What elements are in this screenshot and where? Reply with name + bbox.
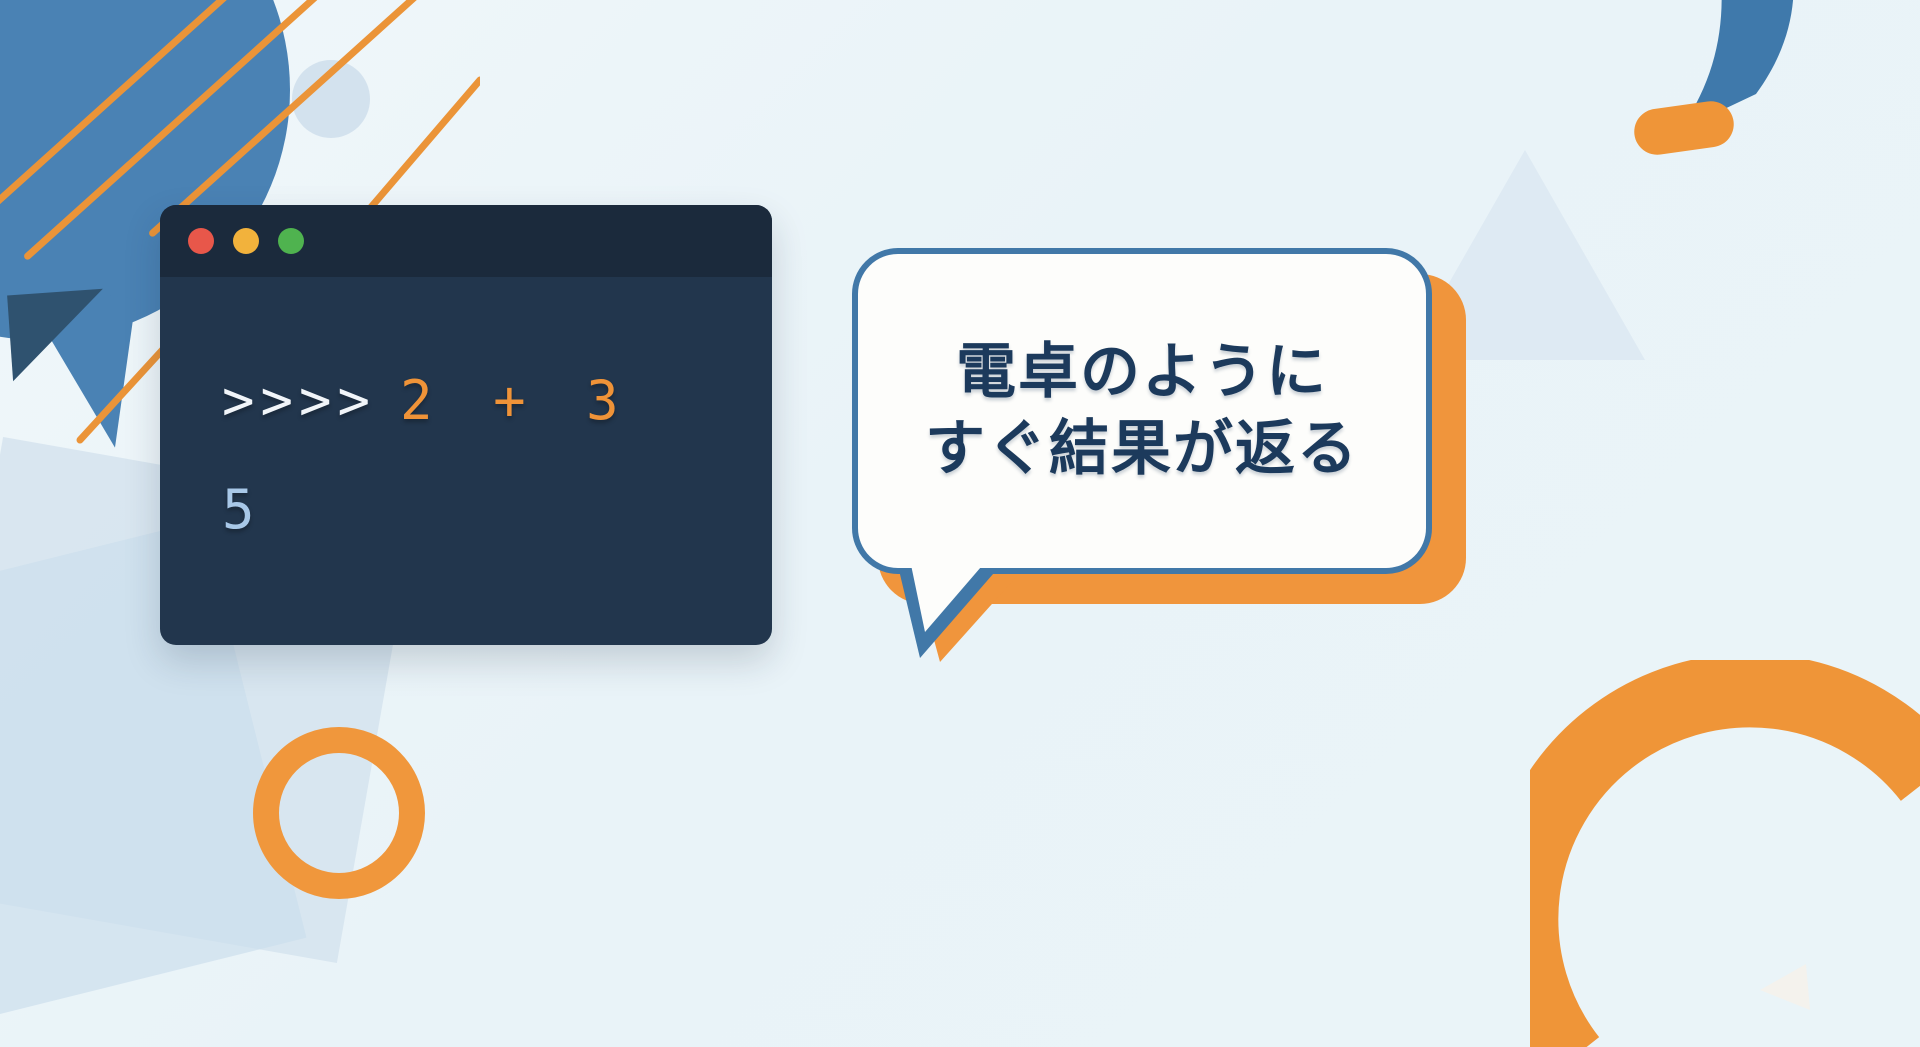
terminal-titlebar[interactable]	[160, 205, 772, 277]
maximize-button[interactable]	[278, 228, 304, 254]
terminal-expression: 2 + 3	[400, 369, 633, 432]
orange-ring-decoration	[253, 727, 425, 899]
orange-arc-decoration	[1530, 660, 1920, 1047]
speech-bubble-line-2: すぐ結果が返る	[925, 413, 1359, 486]
minimize-button[interactable]	[233, 228, 259, 254]
speech-bubble-tail-fill	[910, 560, 987, 632]
terminal-window[interactable]: >>>> 2 + 3 5	[160, 205, 772, 645]
speech-bubble-line-1: 電卓のように	[956, 336, 1328, 409]
speech-bubble-group: 電卓のように すぐ結果が返る	[852, 248, 1472, 668]
close-button[interactable]	[188, 228, 214, 254]
terminal-code-line: >>>> 2 + 3	[222, 369, 772, 432]
terminal-result: 5	[222, 478, 772, 541]
illustration-stage: >>>> 2 + 3 5 電卓のように すぐ結果が返る	[0, 0, 1920, 1047]
terminal-body: >>>> 2 + 3 5	[160, 277, 772, 541]
speech-bubble: 電卓のように すぐ結果が返る	[852, 248, 1432, 574]
terminal-prompt: >>>>	[222, 369, 376, 432]
